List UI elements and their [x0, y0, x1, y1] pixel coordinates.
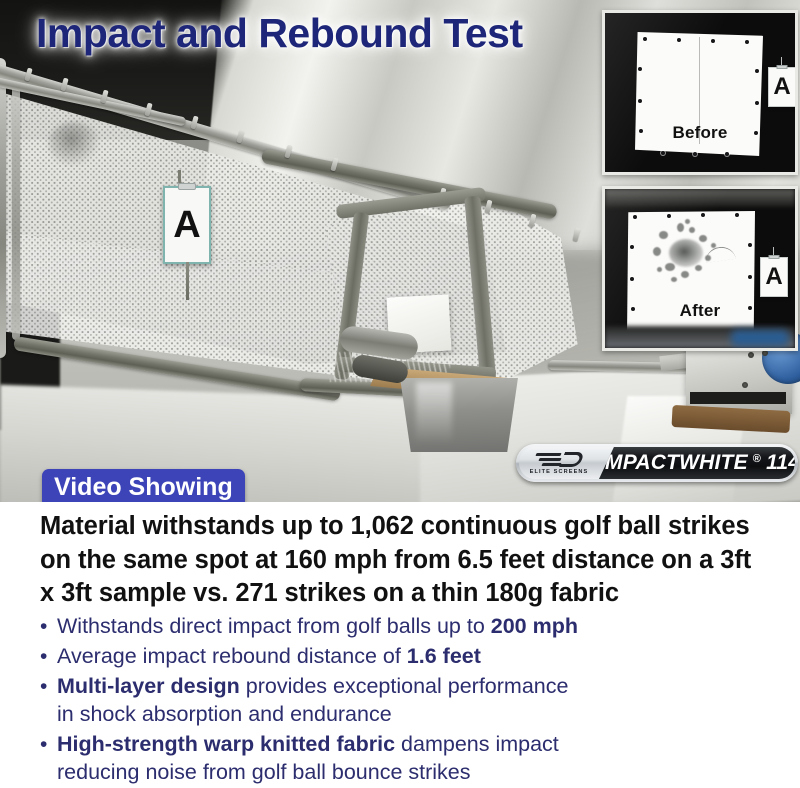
content-area: Material withstands up to 1,062 continuo…: [0, 502, 800, 788]
launcher-slot: [690, 392, 786, 404]
impact-splatter-pattern: [651, 221, 725, 283]
inset-after-photo: After A: [602, 186, 798, 351]
frame-tube-left-vertical-2: [12, 70, 20, 340]
feature-bullet: •High-strength warp knitted fabric dampe…: [40, 731, 780, 787]
es-logo-icon: [536, 452, 582, 467]
main-test-photo: A: [0, 0, 800, 502]
product-model: 1145: [766, 451, 795, 475]
headline-text: Material withstands up to 1,062 continuo…: [40, 510, 770, 611]
feature-bullet: •Multi-layer design provides exceptional…: [40, 673, 780, 729]
bullet-marker-icon: •: [40, 643, 57, 670]
bullet-marker-icon: •: [40, 613, 57, 640]
bucket-highlight: [416, 382, 452, 444]
bullet-marker-icon: •: [40, 731, 57, 758]
inset-label-after: After: [605, 301, 795, 321]
inset-tag-letter: A: [773, 75, 790, 99]
sample-label-letter: A: [173, 206, 200, 244]
video-showing-label: Video Showing: [54, 473, 233, 501]
clipboard-clip-icon: [777, 65, 788, 69]
feature-bullet-list: •Withstands direct impact from golf ball…: [40, 613, 780, 788]
infographic-page: A: [0, 0, 800, 788]
page-title: Impact and Rebound Test: [36, 12, 523, 55]
elite-screens-logo: ELITE SCREENS: [519, 447, 599, 479]
inset-label-before: Before: [605, 123, 795, 143]
tag-string: [186, 262, 189, 300]
inset-label-card-a-before: A: [768, 67, 796, 107]
brand-logo-text: ELITE SCREENS: [530, 469, 589, 475]
product-name: IMPACTWHITE: [599, 451, 748, 475]
product-brand-badge: ELITE SCREENS IMPACTWHITE ® 1145: [516, 444, 798, 482]
inset-label-card-a-after: A: [760, 257, 788, 297]
registered-trademark-icon: ®: [753, 453, 761, 465]
frame-tube-left-vertical: [0, 58, 6, 358]
feature-bullet: •Withstands direct impact from golf ball…: [40, 613, 780, 641]
support-bucket: [392, 378, 526, 452]
inset-before-photo: Before A: [602, 10, 798, 175]
inset-blue-object: [731, 330, 789, 346]
machine-bolt-icon: [742, 382, 748, 388]
feature-bullet-text: Multi-layer design provides exceptional …: [57, 673, 780, 729]
bullet-marker-icon: •: [40, 673, 57, 700]
sample-label-card-a: A: [163, 186, 211, 264]
feature-bullet-text: Withstands direct impact from golf balls…: [57, 613, 780, 641]
inset-tag-letter: A: [765, 265, 782, 289]
net-impact-dent: [48, 122, 100, 166]
feature-bullet: •Average impact rebound distance of 1.6 …: [40, 643, 780, 671]
clipboard-clip-icon: [769, 255, 780, 259]
machine-bolt-icon: [748, 352, 754, 358]
clipboard-clip-icon: [178, 183, 196, 190]
feature-bullet-text: Average impact rebound distance of 1.6 f…: [57, 643, 780, 671]
feature-bullet-text: High-strength warp knitted fabric dampen…: [57, 731, 780, 787]
